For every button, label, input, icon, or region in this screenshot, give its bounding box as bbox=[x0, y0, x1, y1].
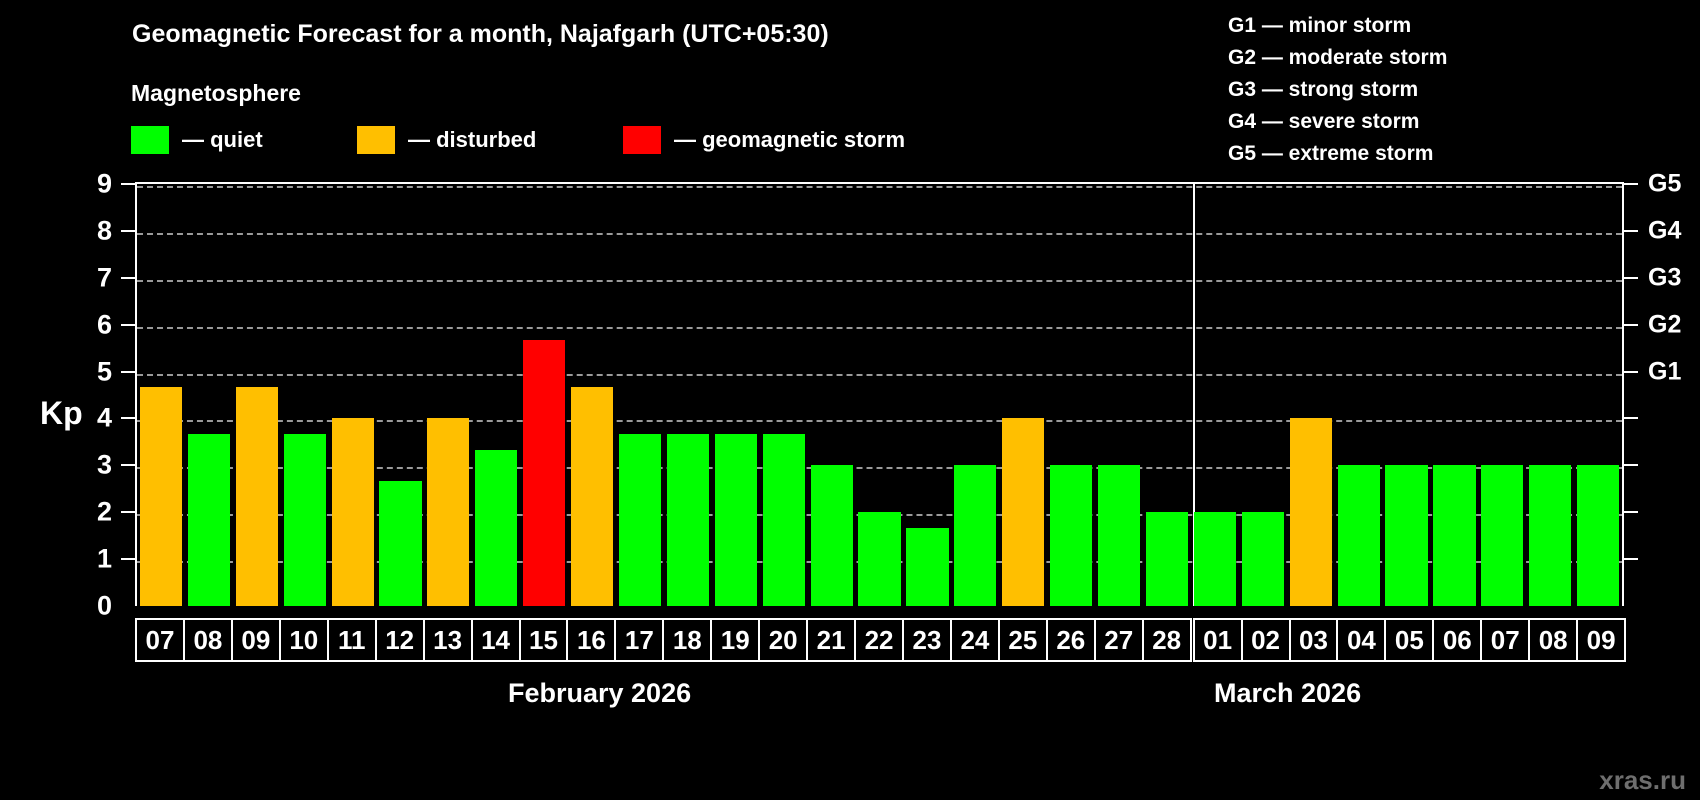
g-tick-label-G1: G1 bbox=[1648, 357, 1681, 386]
g-tick-mark-kp-4 bbox=[1624, 417, 1638, 419]
g-tick-mark-kp-9 bbox=[1624, 183, 1638, 185]
legend-item-disturbed: — disturbed bbox=[357, 124, 536, 156]
bar-cell bbox=[1574, 184, 1622, 606]
date-label-15[interactable]: 15 bbox=[519, 618, 569, 662]
date-label-16[interactable]: 16 bbox=[566, 618, 616, 662]
bar-cell bbox=[1335, 184, 1383, 606]
bar-10-quiet[interactable] bbox=[284, 434, 326, 606]
bar-cell bbox=[1526, 184, 1574, 606]
date-label-14[interactable]: 14 bbox=[471, 618, 521, 662]
bar-07-disturbed[interactable] bbox=[140, 387, 182, 606]
y-tick-label-0: 0 bbox=[72, 591, 112, 622]
x-axis-date-labels: 0708091011121314151617181920212223242526… bbox=[135, 618, 1624, 662]
date-label-08[interactable]: 08 bbox=[1528, 618, 1578, 662]
g-scale-row-1: G1 — minor storm bbox=[1228, 10, 1447, 42]
y-tick-mark-7 bbox=[121, 277, 135, 279]
date-label-27[interactable]: 27 bbox=[1094, 618, 1144, 662]
y-tick-mark-2 bbox=[121, 511, 135, 513]
y-tick-label-3: 3 bbox=[72, 450, 112, 481]
g-tick-mark-kp-5 bbox=[1624, 371, 1638, 373]
bar-cell bbox=[951, 184, 999, 606]
g-tick-mark-kp-1 bbox=[1624, 558, 1638, 560]
g-tick-mark-kp-7 bbox=[1624, 277, 1638, 279]
chart-root: Geomagnetic Forecast for a month, Najafg… bbox=[0, 0, 1700, 800]
date-label-22[interactable]: 22 bbox=[854, 618, 904, 662]
date-label-23[interactable]: 23 bbox=[902, 618, 952, 662]
bar-cell bbox=[377, 184, 425, 606]
date-label-04[interactable]: 04 bbox=[1336, 618, 1386, 662]
y-tick-label-2: 2 bbox=[72, 497, 112, 528]
month-label-march: March 2026 bbox=[1214, 678, 1361, 709]
date-label-13[interactable]: 13 bbox=[423, 618, 473, 662]
bar-cell bbox=[1095, 184, 1143, 606]
bar-cell bbox=[568, 184, 616, 606]
date-label-17[interactable]: 17 bbox=[614, 618, 664, 662]
g-scale-row-4: G4 — severe storm bbox=[1228, 106, 1447, 138]
bar-cell bbox=[1478, 184, 1526, 606]
page-title: Geomagnetic Forecast for a month, Najafg… bbox=[132, 20, 829, 49]
bar-cell bbox=[856, 184, 904, 606]
y-tick-mark-9 bbox=[121, 183, 135, 185]
bar-cell bbox=[424, 184, 472, 606]
legend-swatch-storm-icon bbox=[623, 126, 661, 154]
bar-cell bbox=[616, 184, 664, 606]
date-label-10[interactable]: 10 bbox=[279, 618, 329, 662]
g-scale-row-2: G2 — moderate storm bbox=[1228, 42, 1447, 74]
bar-14-quiet[interactable] bbox=[475, 450, 517, 606]
bar-cell bbox=[1191, 184, 1239, 606]
bar-cell bbox=[520, 184, 568, 606]
bar-28-quiet[interactable] bbox=[1146, 512, 1188, 606]
g-tick-mark-kp-3 bbox=[1624, 464, 1638, 466]
y-tick-mark-4 bbox=[121, 417, 135, 419]
bar-18-quiet[interactable] bbox=[667, 434, 709, 606]
legend-item-quiet: — quiet bbox=[131, 124, 263, 156]
month-label-february: February 2026 bbox=[508, 678, 691, 709]
y-tick-mark-1 bbox=[121, 558, 135, 560]
bar-23-quiet[interactable] bbox=[906, 528, 948, 606]
g-tick-label-G5: G5 bbox=[1648, 170, 1681, 199]
bar-cell bbox=[1383, 184, 1431, 606]
bar-cell bbox=[472, 184, 520, 606]
bar-cell bbox=[808, 184, 856, 606]
legend-label-quiet: — quiet bbox=[182, 127, 263, 153]
date-label-07[interactable]: 07 bbox=[135, 618, 185, 662]
legend-swatch-quiet-icon bbox=[131, 126, 169, 154]
y-tick-label-9: 9 bbox=[72, 169, 112, 200]
bar-cell bbox=[1143, 184, 1191, 606]
g-scale-row-3: G3 — strong storm bbox=[1228, 74, 1447, 106]
bar-19-quiet[interactable] bbox=[715, 434, 757, 606]
bar-07-quiet[interactable] bbox=[1481, 465, 1523, 606]
bar-12-quiet[interactable] bbox=[379, 481, 421, 606]
bar-20-quiet[interactable] bbox=[763, 434, 805, 606]
bar-08-quiet[interactable] bbox=[188, 434, 230, 606]
watermark: xras.ru bbox=[1599, 765, 1686, 796]
bar-cell bbox=[281, 184, 329, 606]
date-label-20[interactable]: 20 bbox=[758, 618, 808, 662]
bar-22-quiet[interactable] bbox=[858, 512, 900, 606]
y-tick-label-5: 5 bbox=[72, 356, 112, 387]
bar-cell bbox=[712, 184, 760, 606]
bar-05-quiet[interactable] bbox=[1385, 465, 1427, 606]
date-label-18[interactable]: 18 bbox=[662, 618, 712, 662]
bar-03-disturbed[interactable] bbox=[1290, 418, 1332, 606]
bar-16-disturbed[interactable] bbox=[571, 387, 613, 606]
y-tick-mark-5 bbox=[121, 371, 135, 373]
bar-cell bbox=[1047, 184, 1095, 606]
date-label-25[interactable]: 25 bbox=[998, 618, 1048, 662]
date-label-06[interactable]: 06 bbox=[1432, 618, 1482, 662]
date-label-07[interactable]: 07 bbox=[1480, 618, 1530, 662]
legend-swatch-disturbed-icon bbox=[357, 126, 395, 154]
g-tick-mark-kp-8 bbox=[1624, 230, 1638, 232]
g-tick-label-G2: G2 bbox=[1648, 310, 1681, 339]
bar-cell bbox=[233, 184, 281, 606]
date-label-03[interactable]: 03 bbox=[1289, 618, 1339, 662]
bar-cell bbox=[1287, 184, 1335, 606]
date-label-12[interactable]: 12 bbox=[375, 618, 425, 662]
bar-02-quiet[interactable] bbox=[1242, 512, 1284, 606]
bar-cell bbox=[1239, 184, 1287, 606]
bar-04-quiet[interactable] bbox=[1338, 465, 1380, 606]
bar-series bbox=[137, 184, 1622, 606]
date-label-09[interactable]: 09 bbox=[231, 618, 281, 662]
y-tick-mark-8 bbox=[121, 230, 135, 232]
y-tick-mark-6 bbox=[121, 324, 135, 326]
date-label-11[interactable]: 11 bbox=[327, 618, 377, 662]
date-label-28[interactable]: 28 bbox=[1142, 618, 1192, 662]
bar-24-quiet[interactable] bbox=[954, 465, 996, 606]
bar-cell bbox=[185, 184, 233, 606]
bar-06-quiet[interactable] bbox=[1433, 465, 1475, 606]
bar-cell bbox=[904, 184, 952, 606]
bar-15-storm[interactable] bbox=[523, 340, 565, 606]
bar-cell bbox=[999, 184, 1047, 606]
g-tick-mark-kp-6 bbox=[1624, 324, 1638, 326]
y-tick-label-1: 1 bbox=[72, 544, 112, 575]
y-tick-mark-3 bbox=[121, 464, 135, 466]
bar-21-quiet[interactable] bbox=[811, 465, 853, 606]
bar-26-quiet[interactable] bbox=[1050, 465, 1092, 606]
bar-27-quiet[interactable] bbox=[1098, 465, 1140, 606]
chart-subtitle: Magnetosphere bbox=[131, 80, 301, 107]
date-label-21[interactable]: 21 bbox=[806, 618, 856, 662]
y-tick-label-6: 6 bbox=[72, 309, 112, 340]
bar-cell bbox=[760, 184, 808, 606]
date-label-09[interactable]: 09 bbox=[1576, 618, 1626, 662]
date-label-01[interactable]: 01 bbox=[1193, 618, 1243, 662]
bar-11-disturbed[interactable] bbox=[332, 418, 374, 606]
bar-cell bbox=[137, 184, 185, 606]
g-tick-label-G3: G3 bbox=[1648, 263, 1681, 292]
legend-label-storm: — geomagnetic storm bbox=[674, 127, 905, 153]
legend-label-disturbed: — disturbed bbox=[408, 127, 536, 153]
date-label-19[interactable]: 19 bbox=[710, 618, 760, 662]
bar-08-quiet[interactable] bbox=[1529, 465, 1571, 606]
date-label-24[interactable]: 24 bbox=[950, 618, 1000, 662]
bar-cell bbox=[329, 184, 377, 606]
g-tick-mark-kp-2 bbox=[1624, 511, 1638, 513]
date-label-05[interactable]: 05 bbox=[1384, 618, 1434, 662]
bar-25-disturbed[interactable] bbox=[1002, 418, 1044, 606]
bar-09-disturbed[interactable] bbox=[236, 387, 278, 606]
bar-01-quiet[interactable] bbox=[1194, 512, 1236, 606]
y-tick-label-8: 8 bbox=[72, 215, 112, 246]
y-tick-label-4: 4 bbox=[72, 403, 112, 434]
bar-17-quiet[interactable] bbox=[619, 434, 661, 606]
date-label-02[interactable]: 02 bbox=[1241, 618, 1291, 662]
bar-13-disturbed[interactable] bbox=[427, 418, 469, 606]
bar-09-quiet[interactable] bbox=[1577, 465, 1619, 606]
bar-cell bbox=[664, 184, 712, 606]
g-scale-legend: G1 — minor stormG2 — moderate stormG3 — … bbox=[1228, 10, 1447, 170]
date-label-08[interactable]: 08 bbox=[183, 618, 233, 662]
legend-item-storm: — geomagnetic storm bbox=[623, 124, 905, 156]
bar-cell bbox=[1430, 184, 1478, 606]
y-tick-label-7: 7 bbox=[72, 262, 112, 293]
g-tick-label-G4: G4 bbox=[1648, 216, 1681, 245]
g-scale-row-5: G5 — extreme storm bbox=[1228, 138, 1447, 170]
date-label-26[interactable]: 26 bbox=[1046, 618, 1096, 662]
